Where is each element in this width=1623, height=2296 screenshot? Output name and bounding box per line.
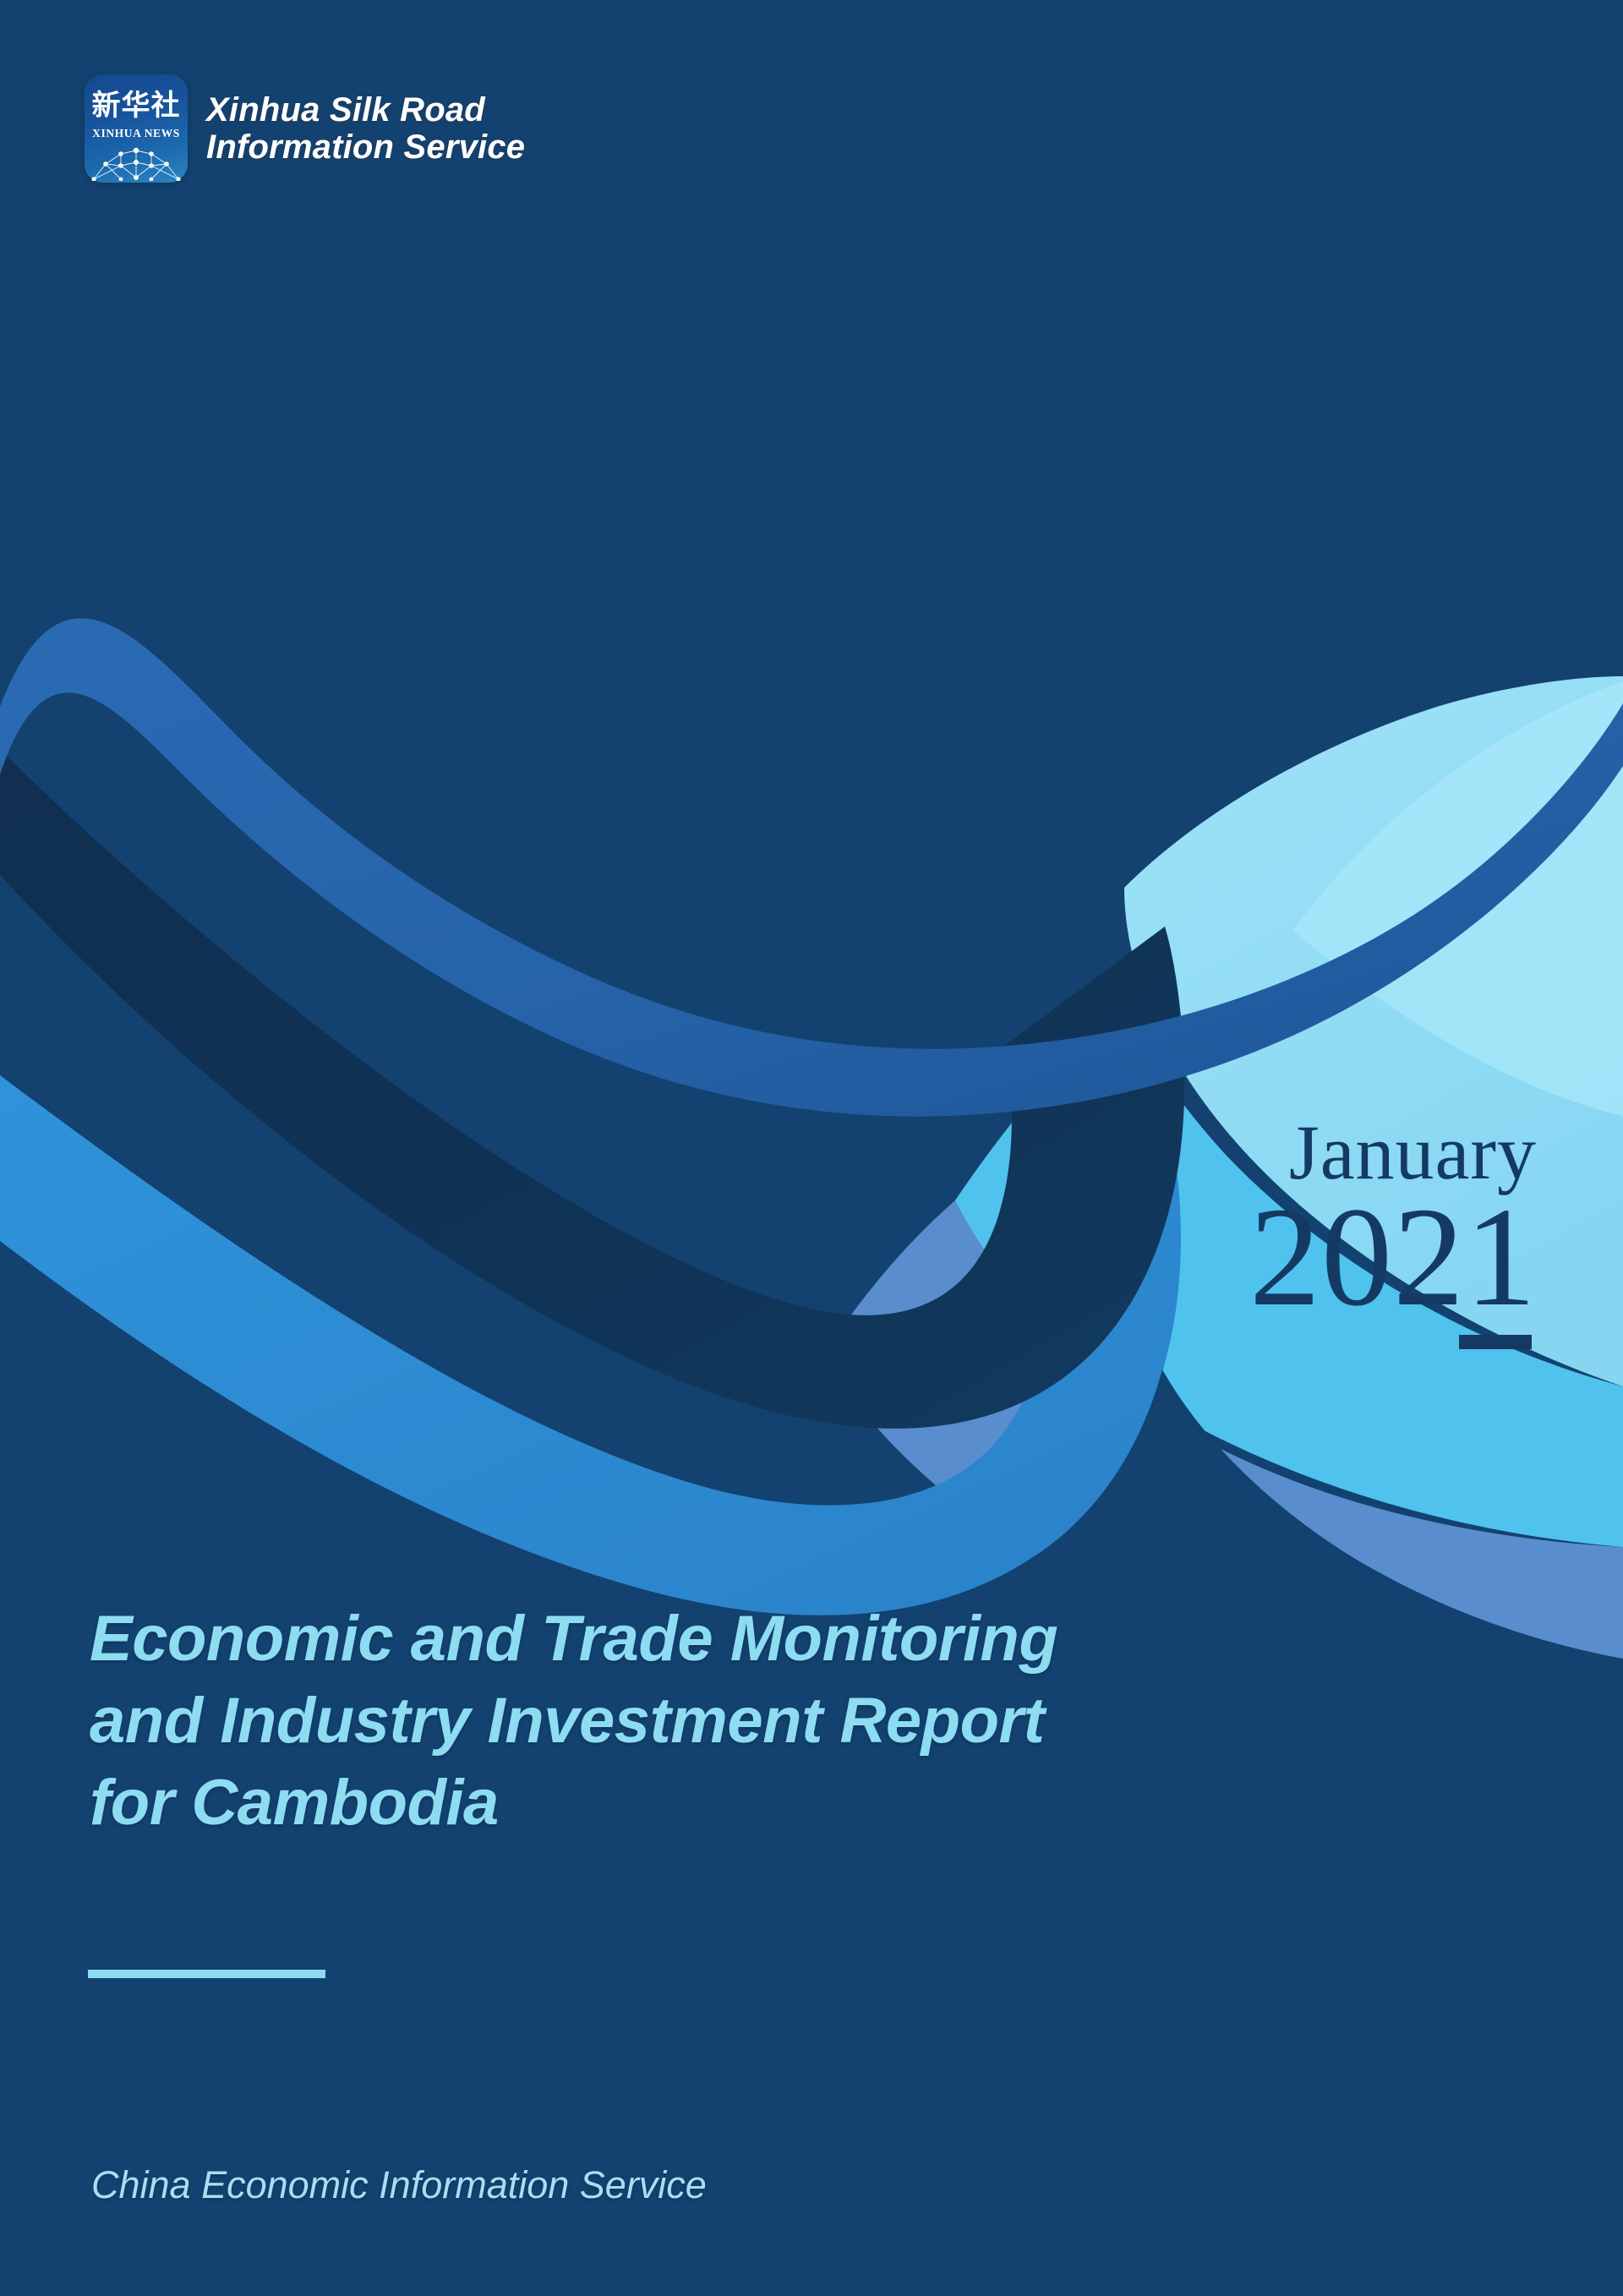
date-underline-rule [1459, 1335, 1532, 1349]
network-dome-icon [90, 144, 182, 181]
brand-lockup: 新华社 XINHUA NEWS [85, 74, 525, 183]
logo-english-label: XINHUA NEWS [85, 127, 188, 140]
xinhua-news-logo-icon: 新华社 XINHUA NEWS [85, 74, 188, 183]
title-line-1: Economic and Trade Monitoring [90, 1598, 1374, 1680]
brand-line-1: Xinhua Silk Road [206, 91, 525, 128]
brand-line-2: Information Service [206, 128, 525, 166]
page-title: Economic and Trade Monitoring and Indust… [90, 1598, 1374, 1844]
brand-name: Xinhua Silk Road Information Service [206, 91, 525, 166]
title-divider-rule [88, 1970, 325, 1978]
title-line-3: for Cambodia [90, 1762, 1374, 1844]
title-line-2: and Industry Investment Report [90, 1680, 1374, 1762]
issue-year: 2021 [1063, 1188, 1537, 1326]
publisher-name: China Economic Information Service [91, 2163, 707, 2207]
report-cover-page: 新华社 XINHUA NEWS [0, 0, 1623, 2296]
issue-date: January 2021 [1063, 1112, 1537, 1353]
logo-chinese-label: 新华社 [85, 90, 188, 122]
